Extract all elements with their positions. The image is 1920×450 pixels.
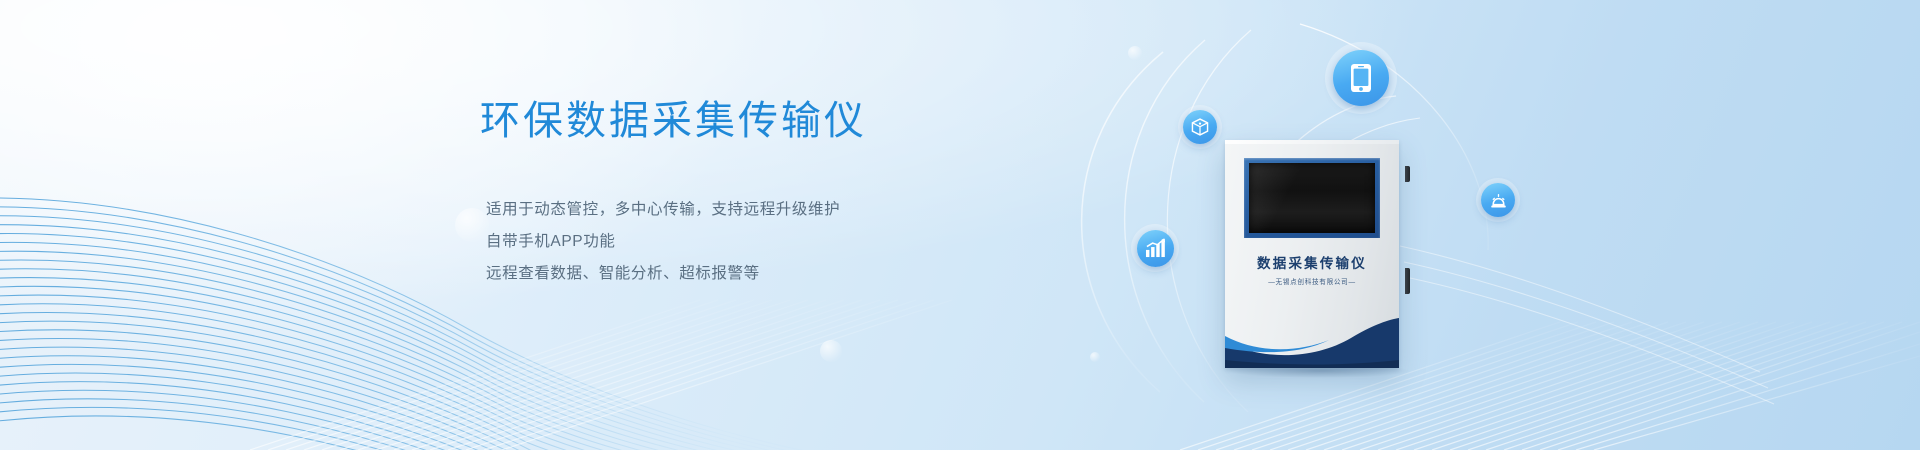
bar-chart-growth-icon-bubble[interactable]: [1131, 224, 1179, 272]
device-company-name: —无锡点创科技有限公司—: [1225, 276, 1399, 287]
feature-item: 自带手机APP功能: [486, 226, 1040, 258]
icon-core: [1183, 110, 1217, 144]
cube-box-icon: [1191, 118, 1209, 136]
bar-chart-growth-icon: [1145, 238, 1166, 258]
device-label: 数据采集传输仪 —无锡点创科技有限公司—: [1225, 252, 1399, 286]
device-wave-graphic: [1225, 308, 1399, 368]
mobile-phone-icon: [1350, 63, 1372, 93]
product-banner: 环保数据采集传输仪 适用于动态管控，多中心传输，支持远程升级维护 自带手机APP…: [0, 0, 1920, 450]
alarm-siren-icon: [1489, 191, 1508, 210]
banner-headline: 环保数据采集传输仪: [480, 96, 1040, 146]
device-brand-name: 数据采集传输仪: [1225, 252, 1399, 272]
device-enclosure: 数据采集传输仪 —无锡点创科技有限公司—: [1225, 140, 1399, 368]
feature-item: 远程查看数据、智能分析、超标报警等: [486, 258, 1040, 290]
feature-list: 适用于动态管控，多中心传输，支持远程升级维护 自带手机APP功能 远程查看数据、…: [486, 194, 1040, 290]
product-device-image: 数据采集传输仪 —无锡点创科技有限公司—: [1225, 140, 1405, 370]
alarm-siren-icon-bubble[interactable]: [1476, 178, 1520, 222]
icon-core: [1333, 50, 1389, 106]
device-top-edge: [1225, 140, 1399, 144]
mobile-phone-icon-bubble[interactable]: [1325, 42, 1397, 114]
device-side-port: [1405, 166, 1410, 182]
feature-item: 适用于动态管控，多中心传输，支持远程升级维护: [486, 194, 1040, 226]
device-side-connector: [1405, 268, 1410, 294]
banner-text-column: 环保数据采集传输仪 适用于动态管控，多中心传输，支持远程升级维护 自带手机APP…: [480, 96, 1040, 290]
icon-core: [1137, 230, 1174, 267]
cube-box-icon-bubble[interactable]: [1178, 105, 1222, 149]
device-screen: [1249, 163, 1375, 233]
icon-core: [1481, 183, 1515, 217]
device-screen-bezel: [1244, 158, 1380, 238]
